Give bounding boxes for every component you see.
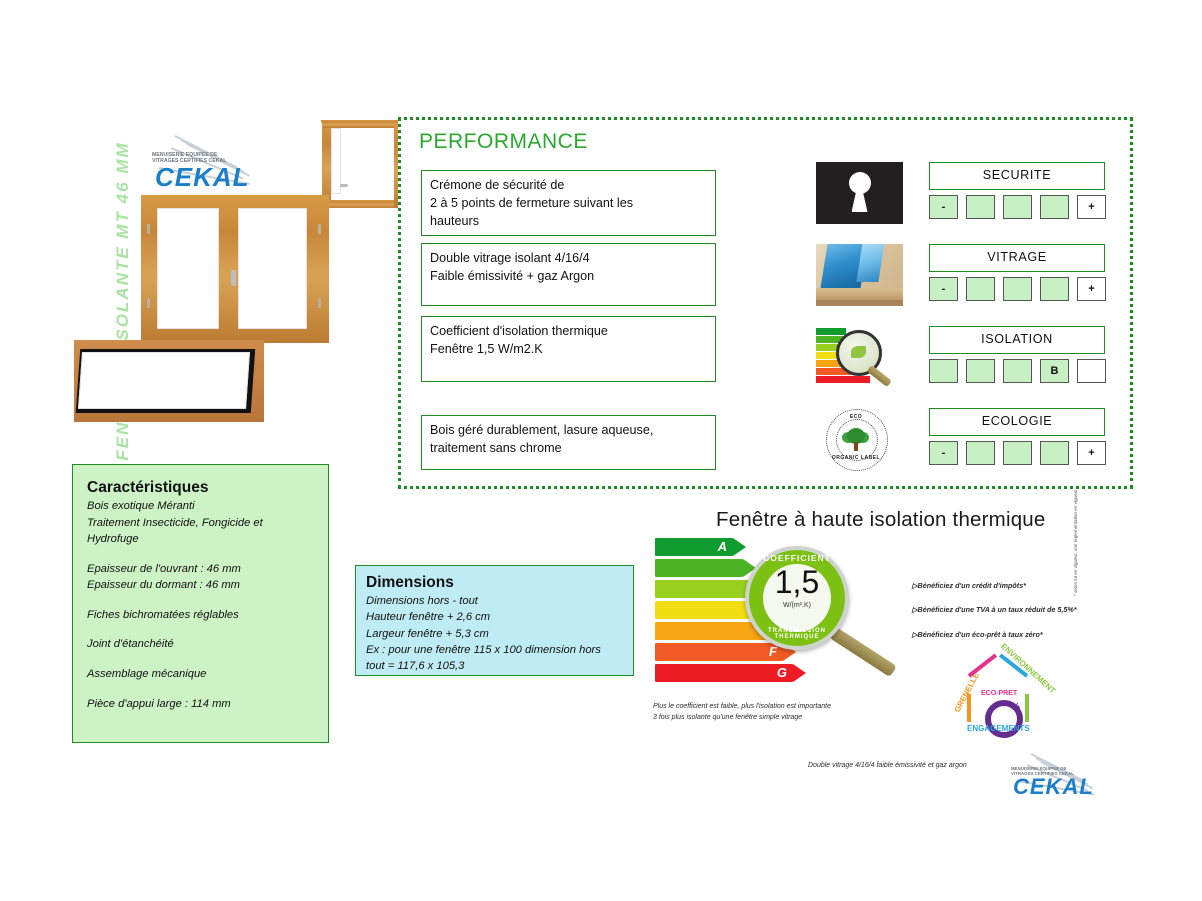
cekal-wordmark: CEKAL	[1013, 774, 1094, 800]
sash-open-handle	[340, 184, 348, 187]
perf-text-line: Coefficient d'isolation thermique	[430, 323, 707, 341]
energy-bar-arrow	[793, 664, 806, 682]
rating-label-vitrage: VITRAGE	[929, 244, 1105, 272]
energy-caption-line-1: Plus le coefficient est faible, plus l'i…	[653, 703, 831, 710]
perf-text-line: Fenêtre 1,5 W/m2.K	[430, 341, 707, 359]
performance-title: PERFORMANCE	[419, 130, 588, 154]
mini-energy-bar	[816, 328, 846, 335]
perf-text-line: traitement sans chrome	[430, 440, 707, 458]
dimensions-line: Ex : pour une fenêtre 115 x 100 dimensio…	[366, 642, 623, 658]
keyhole-icon-shape	[816, 162, 903, 224]
rating-cell[interactable]: -	[929, 441, 958, 465]
caracteristiques-panel: Caractéristiques Bois exotique Méranti T…	[72, 464, 329, 743]
spacer	[87, 653, 314, 666]
coefficient-badge: COEFFICIENT 1,5 W/(m².K) TRANSMISSION TH…	[745, 546, 849, 650]
caracteristiques-line: Assemblage mécanique	[87, 666, 314, 683]
rating-cell[interactable]	[1003, 277, 1032, 301]
window-glazing-icon-shape	[816, 244, 903, 306]
window-right-glass	[238, 208, 307, 329]
caracteristiques-line: Epaisseur de l'ouvrant : 46 mm	[87, 561, 314, 578]
stamp-top-text: ECO	[826, 414, 886, 420]
benefit-text: Bénéficiez d'un crédit d'impôts*	[918, 581, 1026, 590]
performance-panel: PERFORMANCE Crémone de sécurité de 2 à 5…	[398, 117, 1133, 489]
rating-cell[interactable]	[966, 195, 995, 219]
rating-cell[interactable]	[1003, 195, 1032, 219]
cekal-logo-top: MENUISERIE EQUIPEE DE VITRAGES CERTIFIES…	[145, 133, 260, 195]
percent-symbol: %	[1011, 702, 1020, 713]
window-hinge-right-bottom	[318, 298, 321, 308]
energy-bar-letter: G	[777, 664, 787, 682]
caracteristiques-title: Caractéristiques	[87, 479, 314, 497]
rating-label-securite: SECURITE	[929, 162, 1105, 190]
rating-cell[interactable]	[1040, 441, 1069, 465]
rating-cells-ecologie: - +	[929, 441, 1105, 465]
caracteristiques-line: Bois exotique Méranti	[87, 498, 314, 515]
caracteristiques-line: Fiches bichromatées réglables	[87, 607, 314, 624]
performance-box-insulation: Coefficient d'isolation thermique Fenêtr…	[421, 316, 716, 382]
dimensions-line: Dimensions hors - tout	[366, 593, 623, 609]
rating-row-securite: SECURITE - +	[929, 162, 1105, 222]
spacer	[87, 594, 314, 607]
dimensions-panel: Dimensions Dimensions hors - tout Hauteu…	[355, 565, 634, 676]
sash-open-bottom-rail	[321, 200, 406, 208]
eco-pret-label: ECO-PRET	[981, 690, 1017, 697]
energy-bar-letter: A	[718, 538, 727, 556]
sash-open-top-rail	[321, 120, 406, 128]
performance-box-ecology: Bois géré durablement, lasure aqueuse, t…	[421, 415, 716, 470]
perf-text-line: hauteurs	[430, 213, 707, 231]
rating-label-isolation: ISOLATION	[929, 326, 1105, 354]
energy-caption-line-2: 3 fois plus isolante qu'une fenêtre simp…	[653, 714, 802, 721]
footer-note: Double vitrage 4/16/4 faible émissivité …	[808, 762, 967, 769]
benefit-item-2: ▷Bénéficiez d'une TVA à un taux réduit d…	[912, 605, 1077, 614]
performance-box-glazing: Double vitrage isolant 4/16/4 Faible émi…	[421, 243, 716, 306]
transom-glass	[78, 352, 250, 409]
benefit-text: Bénéficiez d'une TVA à un taux réduit de…	[918, 605, 1077, 614]
eco-tree-stamp-icon-shape: ECO ORGANIC LABEL	[816, 408, 903, 470]
window-glazing-icon	[816, 244, 903, 306]
benefit-item-3: ▷Bénéficiez d'un éco-prêt à taux zéro*	[912, 630, 1043, 639]
rating-cell[interactable]	[929, 359, 958, 383]
window-hinge-top	[147, 224, 150, 234]
rating-cell[interactable]	[966, 441, 995, 465]
caracteristiques-line: Pièce d'appui large : 114 mm	[87, 696, 314, 713]
rating-cell[interactable]: -	[929, 277, 958, 301]
energy-magnifier-icon	[816, 326, 903, 388]
spacer	[87, 623, 314, 636]
rating-cell[interactable]	[1003, 359, 1032, 383]
leaf-shape	[851, 346, 866, 358]
tree-trunk	[854, 442, 858, 451]
dimensions-line: Hauteur fenêtre + 2,6 cm	[366, 609, 623, 625]
rating-cell[interactable]: +	[1077, 277, 1106, 301]
energy-label-graphic: A F G COEFFICIENT 1,5 W/(m².K) TRANSMIS	[655, 538, 885, 698]
coefficient-value: 1,5	[749, 564, 845, 601]
grenelle-house-shape: ECO-PRET %	[967, 674, 1029, 720]
performance-box-security: Crémone de sécurité de 2 à 5 points de f…	[421, 170, 716, 236]
benefit-text: Bénéficiez d'un éco-prêt à taux zéro*	[918, 630, 1043, 639]
caracteristiques-line: Hydrofuge	[87, 531, 314, 548]
coefficient-unit: W/(m².K)	[749, 602, 845, 609]
cekal-logo-bottom: MENUISERIE EQUIPEE DE VITRAGES CERTIFIES…	[1005, 752, 1105, 804]
window-hinge-bottom	[147, 298, 150, 308]
grenelle-word-bottom: ENGAGEMENTS	[967, 724, 1030, 733]
rating-cells-securite: - +	[929, 195, 1105, 219]
poster-page: FENETRES ISOLANTE MT 46 MM	[0, 0, 1202, 901]
perf-text-line: Faible émissivité + gaz Argon	[430, 268, 707, 286]
benefit-item-1: ▷Bénéficiez d'un crédit d'impôts*	[912, 581, 1026, 590]
energy-bar-g: G	[655, 664, 793, 682]
rating-cells-isolation: B	[929, 359, 1105, 383]
rating-cell[interactable]	[1040, 277, 1069, 301]
rating-cells-vitrage: - +	[929, 277, 1105, 301]
rating-row-vitrage: VITRAGE - +	[929, 244, 1105, 304]
stamp-bottom-text: ORGANIC LABEL	[826, 455, 886, 461]
energy-bar-f: F	[655, 643, 783, 661]
rating-cell[interactable]	[1077, 359, 1106, 383]
rating-cell[interactable]: -	[929, 195, 958, 219]
perf-text-line: Double vitrage isolant 4/16/4	[430, 250, 707, 268]
magnifier-handle	[867, 365, 892, 387]
rating-label-ecologie: ECOLOGIE	[929, 408, 1105, 436]
rating-cell[interactable]	[1040, 195, 1069, 219]
rating-cell[interactable]: +	[1077, 441, 1106, 465]
spacer	[87, 683, 314, 696]
spacer	[87, 548, 314, 561]
dimensions-line: Largeur fenêtre + 5,3 cm	[366, 626, 623, 642]
rating-row-isolation: ISOLATION B	[929, 326, 1105, 386]
energy-magnifier-icon-shape	[816, 326, 903, 388]
perf-text-line: 2 à 5 points de fermeture suivant les	[430, 195, 707, 213]
rating-cell[interactable]	[1003, 441, 1032, 465]
energy-bar-a: A	[655, 538, 733, 556]
window-hinge-right-top	[318, 224, 321, 234]
rating-cell[interactable]: +	[1077, 195, 1106, 219]
caracteristiques-line: Joint d'étanchéité	[87, 636, 314, 653]
rating-cell[interactable]	[966, 359, 995, 383]
window-left-glass	[157, 208, 219, 329]
house-wall-right	[1025, 694, 1029, 722]
perf-text-line: Bois géré durablement, lasure aqueuse,	[430, 422, 707, 440]
coefficient-badge-bottom-label: TRANSMISSION THERMIQUE	[749, 628, 845, 640]
perf-text-line: Crémone de sécurité de	[430, 177, 707, 195]
rating-cell-selected[interactable]: B	[1040, 359, 1069, 383]
cekal-wordmark: CEKAL	[155, 162, 250, 193]
house-wall-left	[967, 694, 971, 722]
eco-tree-stamp-icon: ECO ORGANIC LABEL	[816, 408, 903, 470]
house-roof-left	[968, 653, 997, 677]
rating-cell[interactable]	[966, 277, 995, 301]
mini-energy-bar	[816, 376, 870, 383]
caracteristiques-line: Epaisseur du dormant : 46 mm	[87, 577, 314, 594]
dimensions-title: Dimensions	[366, 574, 623, 592]
window-center-handle	[231, 270, 236, 286]
keyhole-icon	[816, 162, 903, 224]
energy-bar-b	[655, 559, 743, 577]
coefficient-badge-top-label: COEFFICIENT	[749, 553, 845, 563]
legal-footnote: * selon loi en vigueur, voir réglementat…	[1073, 476, 1078, 596]
glazing-pane-back	[856, 244, 885, 282]
caracteristiques-line: Traitement Insecticide, Fongicide et	[87, 515, 314, 532]
energy-bar-arrow	[733, 538, 746, 556]
energy-bar-c	[655, 580, 753, 598]
dimensions-line: tout = 117,6 x 105,3	[366, 658, 623, 674]
grenelle-environnement-logo: GRENELLE ENVIRONNEMENT ECO-PRET % ENGAGE…	[943, 652, 1055, 740]
promo-title: Fenêtre à haute isolation thermique	[716, 508, 1046, 532]
rating-row-ecologie: ECOLOGIE - +	[929, 408, 1105, 468]
glazing-sill-shadow	[816, 300, 903, 306]
